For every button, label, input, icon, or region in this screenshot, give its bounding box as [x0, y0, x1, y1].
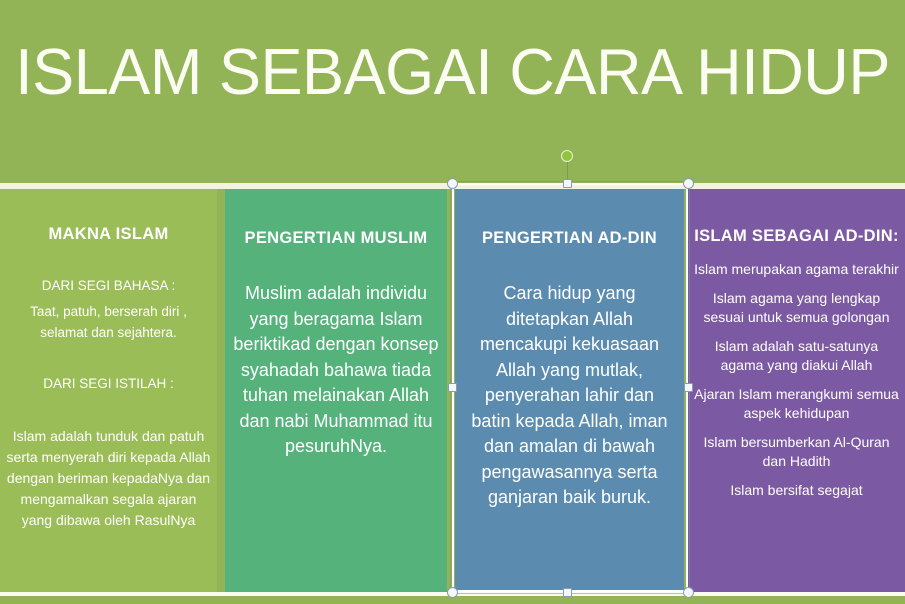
resize-handle-top-center[interactable] — [563, 179, 572, 188]
column-pengertian-ad-din[interactable]: PENGERTIAN AD-DIN Cara hidup yang diteta… — [455, 189, 684, 592]
resize-handle-bottom-left[interactable] — [447, 587, 458, 598]
list-item: Ajaran Islam merangkumi semua aspek kehi… — [692, 385, 901, 423]
resize-handle-top-right[interactable] — [683, 178, 694, 189]
resize-handle-bottom-right[interactable] — [683, 587, 694, 598]
column-pengertian-muslim[interactable]: PENGERTIAN MUSLIM Muslim adalah individu… — [225, 189, 447, 592]
rotate-handle-icon[interactable] — [561, 150, 573, 162]
slide-canvas: ISLAM SEBAGAI CARA HIDUP MAKNA ISLAM DAR… — [0, 0, 905, 604]
makna-islam-subheading-istilah: DARI SEGI ISTILAH : — [6, 373, 211, 394]
page-title: ISLAM SEBAGAI CARA HIDUP — [14, 36, 892, 108]
title-band: ISLAM SEBAGAI CARA HIDUP — [0, 0, 905, 183]
column-heading-islam-sebagai-ad-din: ISLAM SEBAGAI AD-DIN: — [692, 227, 901, 246]
list-item: Islam bersifat segajat — [692, 481, 901, 500]
makna-islam-body-istilah: Islam adalah tunduk dan patuh serta meny… — [6, 426, 211, 531]
resize-handle-top-left[interactable] — [447, 178, 458, 189]
makna-islam-subheading-bahasa: DARI SEGI BAHASA : — [6, 275, 211, 296]
resize-handle-middle-left[interactable] — [448, 383, 457, 392]
islam-ad-din-bullet-list: Islam merupakan agama terakhir Islam aga… — [692, 260, 901, 500]
column-heading-pengertian-muslim: PENGERTIAN MUSLIM — [233, 229, 439, 248]
column-heading-pengertian-ad-din: PENGERTIAN AD-DIN — [463, 229, 676, 248]
list-item: Islam bersumberkan Al-Quran dan Hadith — [692, 433, 901, 471]
column-islam-sebagai-ad-din[interactable]: ISLAM SEBAGAI AD-DIN: Islam merupakan ag… — [688, 189, 905, 592]
resize-handle-middle-right[interactable] — [684, 383, 693, 392]
list-item: Islam merupakan agama terakhir — [692, 260, 901, 279]
column-makna-islam[interactable]: MAKNA ISLAM DARI SEGI BAHASA : Taat, pat… — [0, 189, 217, 592]
resize-handle-bottom-center[interactable] — [563, 588, 572, 597]
list-item: Islam adalah satu-satunya agama yang dia… — [692, 337, 901, 375]
pengertian-ad-din-body: Cara hidup yang ditetapkan Allah mencaku… — [463, 281, 676, 511]
makna-islam-body-bahasa: Taat, patuh, berserah diri , selamat dan… — [6, 301, 211, 343]
column-heading-makna-islam: MAKNA ISLAM — [6, 225, 211, 244]
list-item: Islam agama yang lengkap sesuai untuk se… — [692, 289, 901, 327]
pengertian-muslim-body: Muslim adalah individu yang beragama Isl… — [233, 281, 439, 460]
